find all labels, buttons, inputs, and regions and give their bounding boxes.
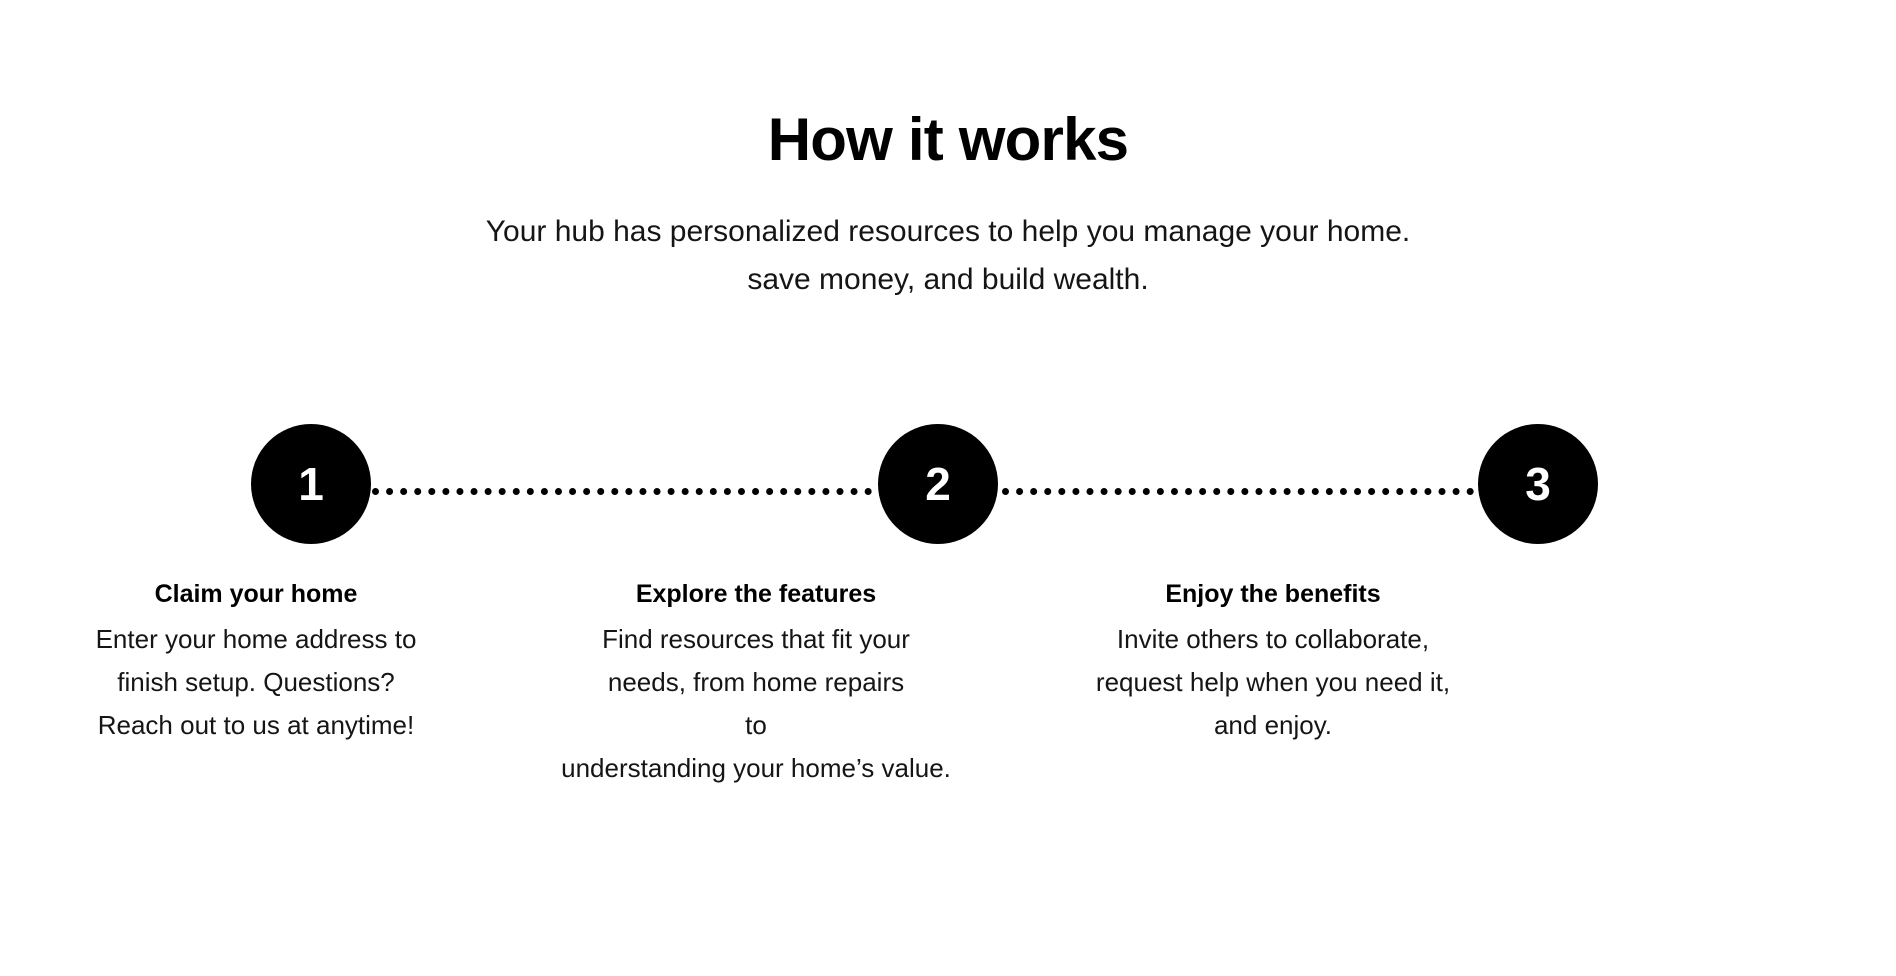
step-number-2: 2: [925, 461, 951, 507]
how-it-works-section: How it works Your hub has personalized r…: [0, 0, 1896, 976]
step-body-3-line-2: request help when you need it,: [1086, 661, 1460, 704]
connector-step-1-to-2: [372, 488, 872, 495]
page-subtitle-line-2: save money, and build wealth.: [0, 256, 1896, 304]
step-heading-3: Enjoy the benefits: [1086, 578, 1460, 610]
step-number-3: 3: [1525, 461, 1551, 507]
step-body-2-line-2: needs, from home repairs: [546, 661, 966, 704]
step-body-3: Invite others to collaborate, request he…: [1086, 618, 1460, 747]
step-number-1: 1: [298, 461, 324, 507]
step-body-1: Enter your home address to finish setup.…: [91, 618, 421, 747]
connector-step-2-to-3: [1002, 488, 1474, 495]
step-heading-1: Claim your home: [91, 578, 421, 610]
step-body-2: Find resources that fit your needs, from…: [546, 618, 966, 790]
step-item-1: Claim your home Enter your home address …: [91, 578, 421, 747]
step-circle-1[interactable]: 1: [251, 424, 371, 544]
step-body-2-line-3: to: [546, 704, 966, 747]
step-body-1-line-1: Enter your home address to: [91, 618, 421, 661]
step-item-3: Enjoy the benefits Invite others to coll…: [1086, 578, 1460, 747]
step-body-2-line-4: understanding your home’s value.: [546, 747, 966, 790]
step-body-2-line-1: Find resources that fit your: [546, 618, 966, 661]
step-circle-2[interactable]: 2: [878, 424, 998, 544]
step-circle-3[interactable]: 3: [1478, 424, 1598, 544]
step-item-2: Explore the features Find resources that…: [546, 578, 966, 790]
step-body-3-line-1: Invite others to collaborate,: [1086, 618, 1460, 661]
page-subtitle-line-1: Your hub has personalized resources to h…: [0, 208, 1896, 256]
step-body-1-line-2: finish setup. Questions?: [91, 661, 421, 704]
page-subtitle: Your hub has personalized resources to h…: [0, 208, 1896, 304]
step-body-1-line-3: Reach out to us at anytime!: [91, 704, 421, 747]
page-title: How it works: [0, 106, 1896, 174]
step-descriptions: Claim your home Enter your home address …: [0, 578, 1896, 798]
section-header: How it works Your hub has personalized r…: [0, 106, 1896, 304]
stepper: 1 2 3: [0, 424, 1896, 554]
step-body-3-line-3: and enjoy.: [1086, 704, 1460, 747]
step-heading-2: Explore the features: [546, 578, 966, 610]
